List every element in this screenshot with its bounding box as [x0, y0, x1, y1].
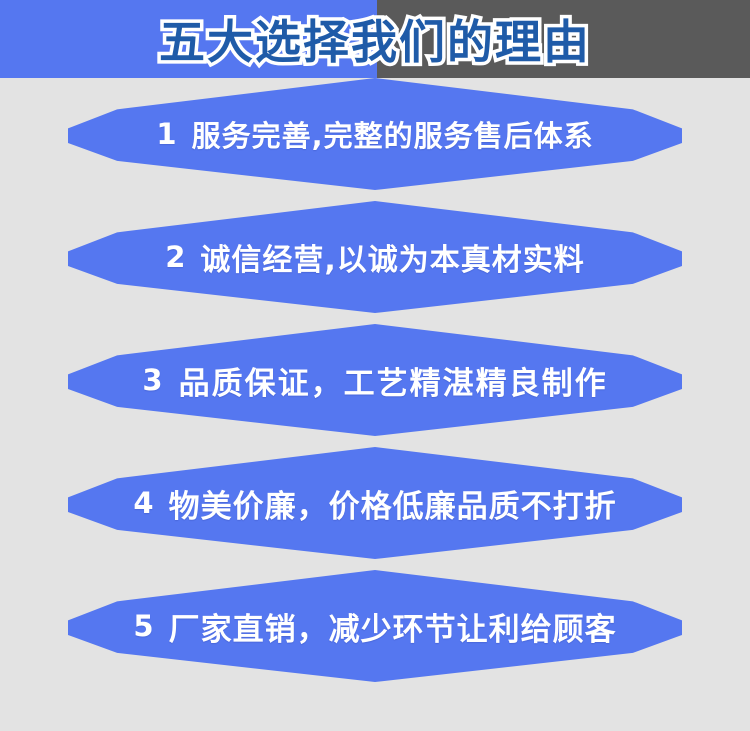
- reason-banner-3-content: 3 品质保证，工艺精湛精良制作: [68, 324, 682, 436]
- reason-label-1: 服务完善,完整的服务售后体系: [192, 113, 594, 155]
- reason-label-4: 物美价廉，价格低廉品质不打折: [169, 481, 617, 526]
- reason-label-3: 品质保证，工艺精湛精良制作: [179, 358, 608, 403]
- reason-banner-1[interactable]: 1 服务完善,完整的服务售后体系: [68, 78, 682, 190]
- reason-number-2: 2: [165, 240, 186, 274]
- reason-banner-5[interactable]: 5 厂家直销，减少环节让利给顾客: [68, 570, 682, 682]
- reasons-list: 1 服务完善,完整的服务售后体系 2 诚信经营,以诚为本真材实料 3 品质保证，…: [0, 78, 750, 731]
- page-title: 五大选择我们的理由: [0, 0, 750, 78]
- reason-banner-5-content: 5 厂家直销，减少环节让利给顾客: [68, 570, 682, 682]
- reason-number-1: 1: [156, 117, 177, 151]
- reason-number-4: 4: [133, 486, 154, 520]
- reason-banner-4-content: 4 物美价廉，价格低廉品质不打折: [68, 447, 682, 559]
- reason-number-5: 5: [133, 609, 154, 643]
- reason-label-5: 厂家直销，减少环节让利给顾客: [169, 604, 617, 649]
- page-header: 五大选择我们的理由: [0, 0, 750, 78]
- reason-banner-3[interactable]: 3 品质保证，工艺精湛精良制作: [68, 324, 682, 436]
- reason-number-3: 3: [142, 363, 164, 397]
- reason-label-2: 诚信经营,以诚为本真材实料: [200, 235, 584, 279]
- reason-banner-2-content: 2 诚信经营,以诚为本真材实料: [68, 201, 682, 313]
- reason-banner-4[interactable]: 4 物美价廉，价格低廉品质不打折: [68, 447, 682, 559]
- reason-banner-1-content: 1 服务完善,完整的服务售后体系: [68, 78, 682, 190]
- reason-banner-2[interactable]: 2 诚信经营,以诚为本真材实料: [68, 201, 682, 313]
